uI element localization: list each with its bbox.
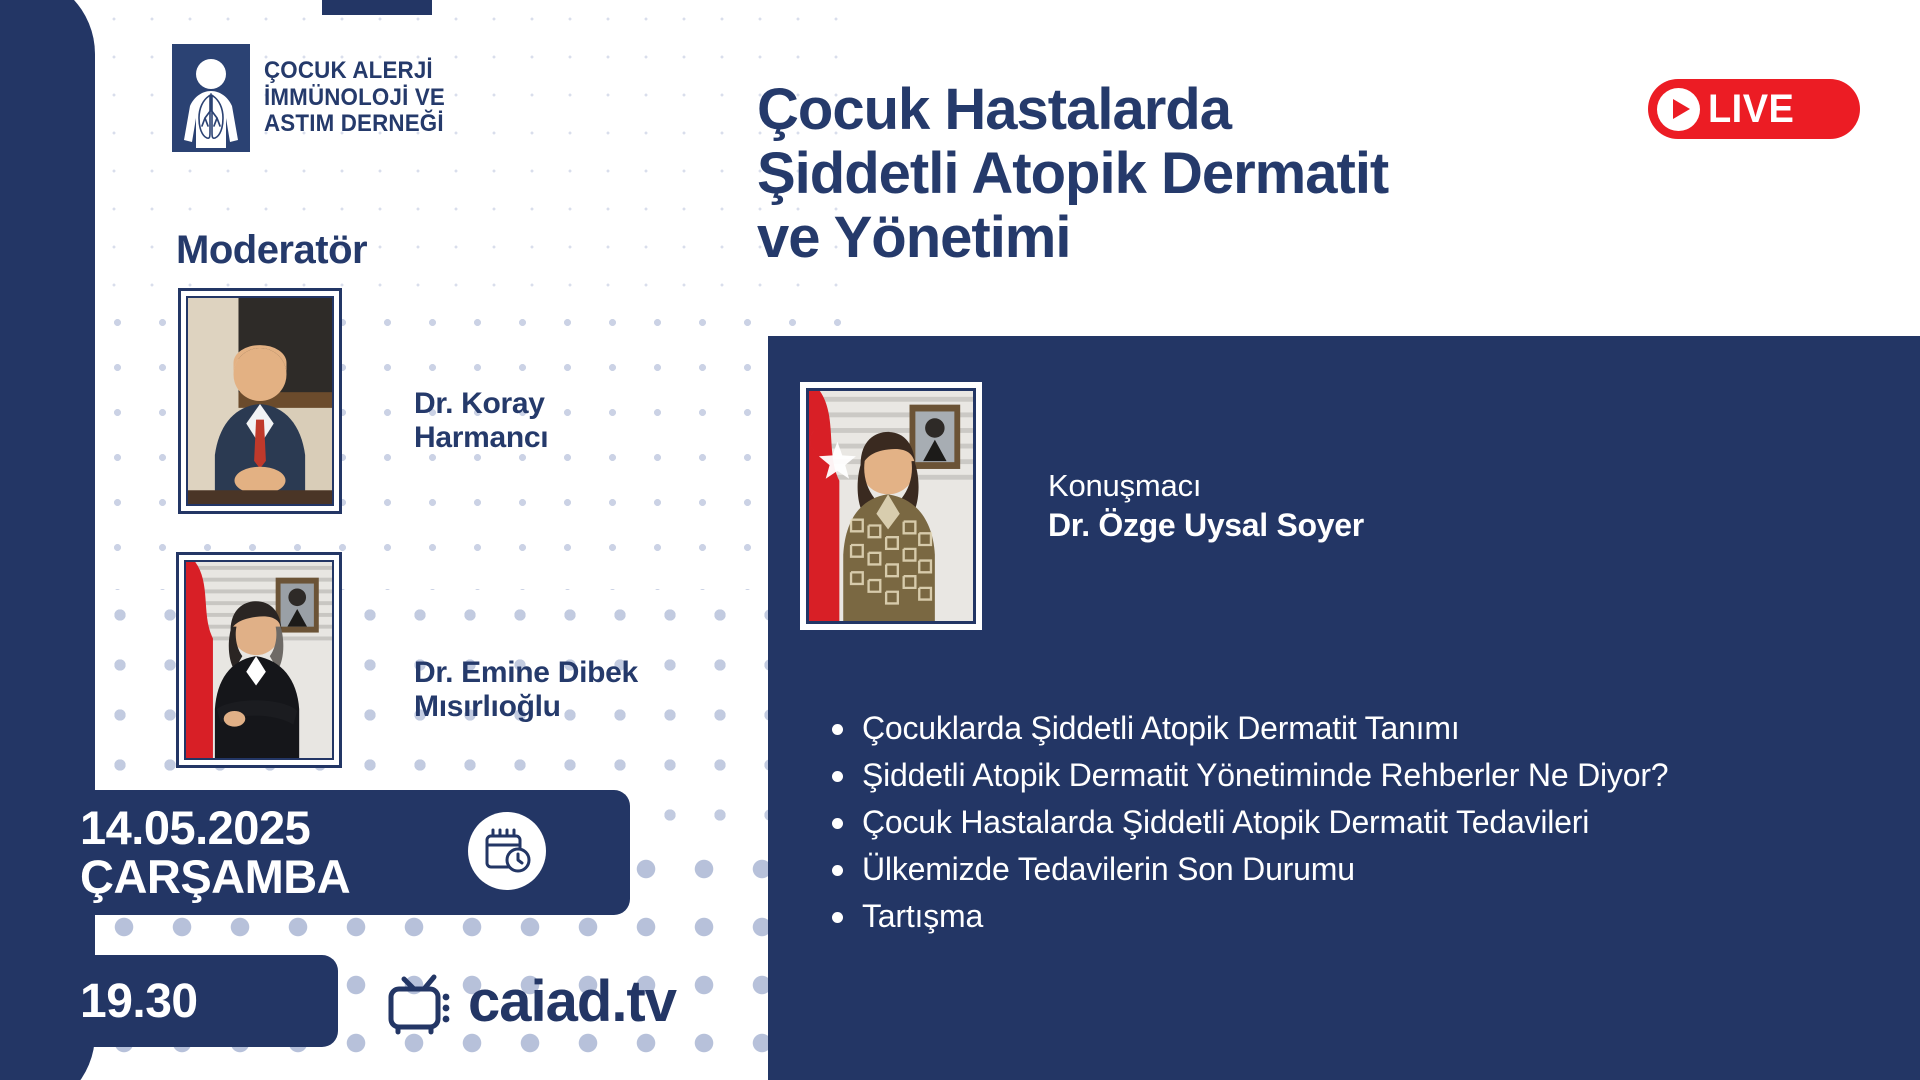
- moderator-photo-2: [184, 560, 334, 760]
- moderator-2-name-line2: Mısırlıoğlu: [414, 690, 638, 724]
- page-title: Çocuk Hastalarda Şiddetli Atopik Dermati…: [757, 78, 1388, 269]
- topics-list: Çocuklarda Şiddetli Atopik Dermatit Tanı…: [828, 708, 1878, 943]
- dot-pattern-background: [95, 0, 870, 1080]
- moderator-1: Dr. Koray Harmancı: [178, 288, 548, 514]
- play-icon: [1657, 88, 1700, 131]
- title-line-3: ve Yönetimi: [757, 206, 1388, 270]
- channel-row[interactable]: caiad.tv: [380, 960, 676, 1043]
- speaker-name: Dr. Özge Uysal Soyer: [1048, 505, 1364, 545]
- moderator-photo-1: [186, 296, 334, 506]
- title-line-2: Şiddetli Atopik Dermatit: [757, 142, 1388, 206]
- top-accent-tab: [322, 0, 432, 15]
- logo-line-1: ÇOCUK ALERJİ: [264, 58, 445, 85]
- logo-line-2: İMMÜNOLOJİ VE: [264, 85, 445, 112]
- logo-wordmark: ÇOCUK ALERJİ İMMÜNOLOJİ VE ASTIM DERNEĞİ: [264, 58, 445, 139]
- list-item: Çocuk Hastalarda Şiddetli Atopik Dermati…: [828, 802, 1878, 843]
- event-date: 14.05.2025: [80, 804, 350, 853]
- moderator-photo-2-frame: [176, 552, 342, 768]
- time-badge: 19.30: [0, 955, 338, 1047]
- list-item: Şiddetli Atopik Dermatit Yönetiminde Reh…: [828, 755, 1878, 796]
- title-line-1: Çocuk Hastalarda: [757, 78, 1388, 142]
- list-item: Tartışma: [828, 896, 1878, 937]
- moderator-2: Dr. Emine Dibek Mısırlıoğlu: [176, 552, 638, 768]
- speaker-photo-frame: [800, 382, 982, 630]
- date-text: 14.05.2025 ÇARŞAMBA: [80, 804, 350, 902]
- logo-line-3: ASTIM DERNEĞİ: [264, 111, 445, 138]
- association-logo: ÇOCUK ALERJİ İMMÜNOLOJİ VE ASTIM DERNEĞİ: [172, 44, 459, 152]
- moderator-2-name: Dr. Emine Dibek Mısırlıoğlu: [414, 656, 638, 723]
- speaker-text: Konuşmacı Dr. Özge Uysal Soyer: [1048, 467, 1364, 546]
- live-label: LIVE: [1708, 87, 1794, 132]
- channel-label[interactable]: caiad.tv: [468, 968, 676, 1035]
- moderator-photo-1-frame: [178, 288, 342, 514]
- list-item: Ülkemizde Tedavilerin Son Durumu: [828, 849, 1878, 890]
- calendar-clock-icon: [468, 812, 546, 890]
- moderator-1-name: Dr. Koray Harmancı: [414, 387, 548, 454]
- list-item: Çocuklarda Şiddetli Atopik Dermatit Tanı…: [828, 708, 1878, 749]
- moderator-heading: Moderatör: [176, 228, 367, 273]
- speaker-photo: [806, 388, 976, 624]
- live-badge[interactable]: LIVE: [1648, 79, 1860, 139]
- event-time: 19.30: [80, 974, 198, 1029]
- left-accent-band: [0, 0, 95, 1080]
- moderator-2-name-line1: Dr. Emine Dibek: [414, 656, 638, 690]
- moderator-1-name-line1: Dr. Koray: [414, 387, 548, 421]
- speaker-role: Konuşmacı: [1048, 467, 1364, 506]
- event-day: ÇARŞAMBA: [80, 853, 350, 902]
- date-badge: 14.05.2025 ÇARŞAMBA: [0, 790, 630, 915]
- child-lungs-icon: [172, 44, 250, 152]
- moderator-1-name-line2: Harmancı: [414, 421, 548, 455]
- speaker-block: Konuşmacı Dr. Özge Uysal Soyer: [800, 382, 1364, 630]
- tv-icon: [380, 960, 458, 1043]
